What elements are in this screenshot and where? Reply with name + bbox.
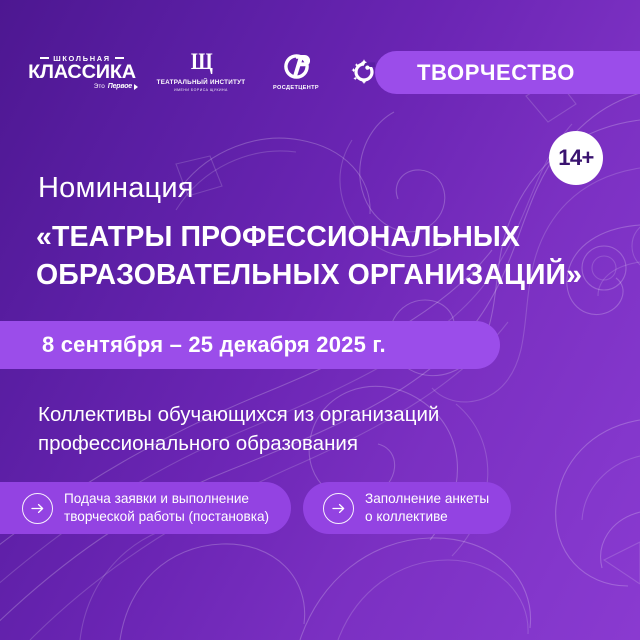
partner-logo-row: ШКОЛЬНАЯ КЛАССИКА Это Первое Щ ТЕАТРАЛЬН… xyxy=(26,46,415,98)
nomination-kicker: Номинация xyxy=(38,172,194,205)
action-label-line-2: о коллективе xyxy=(365,508,489,526)
flag-icon xyxy=(134,84,138,90)
logo-sub-prefix: Это xyxy=(94,83,105,90)
description-text: Коллективы обучающихся из организаций пр… xyxy=(38,400,439,458)
logo-teatralny-institut-line2: ИМЕНИ БОРИСА ЩУКИНА xyxy=(174,88,228,92)
age-rating-badge: 14+ xyxy=(549,131,603,185)
action-pill-fill-questionnaire[interactable]: Заполнение анкеты о коллективе xyxy=(303,482,511,534)
age-rating-label: 14+ xyxy=(558,145,594,171)
date-range-pill: 8 сентября – 25 декабря 2025 г. xyxy=(0,321,500,369)
description-line-2: профессионального образования xyxy=(38,429,439,458)
decorative-dash-right xyxy=(115,57,124,58)
logo-shkolnaya-klassika-main-text: КЛАССИКА xyxy=(25,63,139,83)
logo-rosdetcentr-text: РОСДЕТЦЕНТР xyxy=(273,85,319,91)
logo-sub-brand: Первое xyxy=(108,83,132,90)
rosdetcentr-mark-icon xyxy=(283,53,310,80)
action-pill-fill-questionnaire-label: Заполнение анкеты о коллективе xyxy=(365,490,489,526)
promo-poster: ШКОЛЬНАЯ КЛАССИКА Это Первое Щ ТЕАТРАЛЬН… xyxy=(0,0,640,640)
logo-teatralny-institut-line1: ТЕАТРАЛЬНЫЙ ИНСТИТУТ xyxy=(157,79,246,86)
date-range-label: 8 сентября – 25 декабря 2025 г. xyxy=(42,332,386,358)
logo-teatralny-institut: Щ ТЕАТРАЛЬНЫЙ ИНСТИТУТ ИМЕНИ БОРИСА ЩУКИ… xyxy=(160,52,242,92)
page-title-line-2: ОБРАЗОВАТЕЛЬНЫХ ОРГАНИЗАЦИЙ» xyxy=(36,257,636,295)
page-title-line-1: «ТЕАТРЫ ПРОФЕССИОНАЛЬНЫХ xyxy=(36,219,636,257)
description-line-1: Коллективы обучающихся из организаций xyxy=(38,400,439,429)
page-title: «ТЕАТРЫ ПРОФЕССИОНАЛЬНЫХ ОБРАЗОВАТЕЛЬНЫХ… xyxy=(36,219,636,295)
action-label-line-1: Заполнение анкеты xyxy=(365,490,489,508)
nfpp-mark-icon xyxy=(350,58,378,86)
logo-shkolnaya-klassika-sub: Это Первое xyxy=(26,83,138,90)
action-label-line-2: творческой работы (постановка) xyxy=(64,508,269,526)
arrow-right-icon xyxy=(323,493,354,524)
action-pill-row: Подача заявки и выполнение творческой ра… xyxy=(0,482,511,534)
decorative-dash-left xyxy=(40,57,49,58)
arrow-right-icon xyxy=(22,493,53,524)
action-label-line-1: Подача заявки и выполнение xyxy=(64,490,269,508)
category-badge: ТВОРЧЕСТВО xyxy=(375,51,640,94)
category-badge-label: ТВОРЧЕСТВО xyxy=(417,60,575,86)
logo-rosdetcentr: РОСДЕТЦЕНТР xyxy=(264,53,328,91)
action-pill-submit-application-label: Подача заявки и выполнение творческой ра… xyxy=(64,490,269,526)
shchukin-monogram-icon: Щ xyxy=(191,50,211,74)
logo-shkolnaya-klassika: ШКОЛЬНАЯ КЛАССИКА Это Первое xyxy=(26,54,138,91)
action-pill-submit-application[interactable]: Подача заявки и выполнение творческой ра… xyxy=(0,482,291,534)
